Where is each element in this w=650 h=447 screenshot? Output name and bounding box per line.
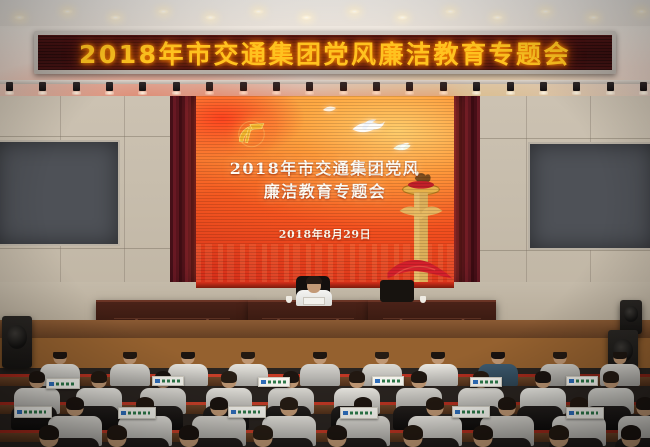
- dove-icon: [392, 140, 414, 154]
- track-spotlight: [106, 82, 113, 91]
- audience-member-hair: [91, 371, 107, 383]
- led-banner-text: 2018年市交通集团党风廉洁教育专题会: [79, 35, 571, 70]
- audience-member-hair: [280, 397, 298, 410]
- speaker-hair: [306, 276, 322, 284]
- audience-member: [86, 424, 148, 447]
- water-cup: [286, 296, 292, 303]
- audience-member-hair: [123, 352, 137, 359]
- track-spotlight: [240, 82, 247, 91]
- water-cup: [420, 296, 426, 303]
- track-spotlight: [73, 82, 80, 91]
- acoustic-panel-left: [0, 140, 120, 246]
- audience-member: [452, 424, 514, 447]
- nameplate-text: [56, 382, 76, 385]
- audience-member-hair: [181, 352, 195, 359]
- track-spotlight: [373, 82, 380, 91]
- track-spotlight: [39, 82, 46, 91]
- slide-date: 2018年8月29日: [196, 226, 454, 242]
- nameplate-text: [268, 381, 287, 384]
- nameplate-logo-icon: [569, 411, 574, 415]
- desk-nameplate: [258, 377, 290, 387]
- audience-member-hair: [535, 371, 551, 383]
- nameplate-logo-icon: [155, 379, 160, 383]
- audience-member-hair: [636, 397, 650, 410]
- nameplate-logo-icon: [473, 380, 478, 384]
- audience-member-hair: [549, 425, 569, 440]
- lighting-track-rail: [0, 80, 650, 84]
- desk-nameplate: [14, 406, 52, 418]
- downlight: [445, 9, 456, 14]
- desk-nameplate: [340, 407, 378, 419]
- audience-member-hair: [553, 352, 567, 359]
- track-spotlight: [206, 82, 213, 91]
- audience-member-hair: [253, 425, 273, 440]
- desk-nameplate: [566, 376, 598, 386]
- nameplate-logo-icon: [121, 411, 126, 415]
- downlight: [349, 9, 360, 14]
- audience-member-hair: [327, 425, 347, 440]
- slide-title-line2: 廉洁教育专题会: [196, 181, 454, 204]
- desk-monitor: [380, 280, 414, 302]
- audience-member: [158, 424, 220, 447]
- ceiling-soffit: [0, 0, 650, 26]
- nameplate-text: [462, 411, 484, 414]
- downlight: [636, 9, 647, 14]
- track-spotlight: [139, 82, 146, 91]
- audience-member-hair: [241, 352, 255, 359]
- speaker-nameplate: [303, 297, 325, 305]
- track-spotlight: [440, 82, 447, 91]
- led-banner-panel: 2018年市交通集团党风廉洁教育专题会: [38, 35, 612, 70]
- audience-member-hair: [491, 352, 505, 359]
- wall-seam: [464, 138, 650, 139]
- nameplate-logo-icon: [231, 410, 236, 414]
- nameplate-text: [128, 412, 150, 415]
- desk-nameplate: [118, 407, 156, 419]
- downlight: [14, 15, 25, 20]
- slide-title-line1: 2018年市交通集团党风: [196, 158, 454, 181]
- track-spotlight: [573, 82, 580, 91]
- desk-nameplate: [470, 377, 502, 387]
- nameplate-logo-icon: [17, 410, 22, 414]
- audience-member-hair: [210, 397, 228, 410]
- party-emblem-icon: [234, 119, 268, 149]
- nameplate-text: [350, 412, 372, 415]
- track-spotlight: [173, 82, 180, 91]
- audience-member-hair: [313, 352, 327, 359]
- desk-nameplate: [152, 376, 184, 386]
- nameplate-text: [24, 411, 46, 414]
- desk-nameplate: [566, 407, 604, 419]
- audience-member: [600, 424, 650, 447]
- audience-member-hair: [621, 425, 641, 440]
- audience-member: [306, 424, 368, 447]
- downlight: [301, 15, 312, 20]
- track-spotlight: [540, 82, 547, 91]
- nameplate-text: [382, 380, 401, 383]
- nameplate-text: [576, 380, 595, 383]
- audience-member-hair: [53, 352, 67, 359]
- audience-member-hair: [66, 397, 84, 410]
- audience-member-hair: [39, 425, 59, 440]
- nameplate-text: [238, 411, 260, 414]
- desk-nameplate: [228, 406, 266, 418]
- nameplate-logo-icon: [261, 380, 266, 384]
- slide-title: 2018年市交通集团党风 廉洁教育专题会: [196, 158, 454, 203]
- wall-seam: [464, 250, 650, 251]
- audience-area: [0, 352, 650, 447]
- audience-member-hair: [349, 371, 365, 383]
- desk-nameplate: [452, 406, 490, 418]
- track-spotlight: [473, 82, 480, 91]
- conference-hall-photo: 2018年市交通集团党风廉洁教育专题会: [0, 0, 650, 447]
- audience-member-hair: [498, 397, 516, 410]
- audience-member: [382, 424, 444, 447]
- audience-member-hair: [179, 425, 199, 440]
- track-spotlight: [607, 82, 614, 91]
- desk-nameplate: [372, 376, 404, 386]
- wall-seam: [0, 136, 186, 137]
- track-spotlight: [273, 82, 280, 91]
- acoustic-panel-right: [528, 142, 650, 250]
- downlight: [158, 9, 169, 14]
- audience-member-hair: [426, 397, 444, 410]
- track-spotlight: [507, 82, 514, 91]
- pa-speaker-right-upper: [620, 300, 642, 334]
- track-spotlight: [6, 82, 13, 91]
- nameplate-logo-icon: [455, 410, 460, 414]
- audience-member-hair: [29, 371, 45, 383]
- dove-icon: [322, 104, 338, 114]
- audience-member-hair: [411, 371, 427, 383]
- audience-member: [232, 424, 294, 447]
- red-ribbon-icon: [386, 254, 454, 280]
- nameplate-logo-icon: [343, 411, 348, 415]
- audience-member: [18, 424, 80, 447]
- downlight: [62, 9, 73, 14]
- audience-member-hair: [221, 371, 237, 383]
- led-banner: 2018年市交通集团党风廉洁教育专题会: [34, 31, 616, 74]
- nameplate-logo-icon: [569, 379, 574, 383]
- downlight: [110, 15, 121, 20]
- track-spotlight: [340, 82, 347, 91]
- audience-member-hair: [473, 425, 493, 440]
- dove-icon: [350, 116, 386, 138]
- nameplate-text: [480, 381, 499, 384]
- audience-member-hair: [613, 352, 627, 359]
- audience-member-hair: [107, 425, 127, 440]
- nameplate-logo-icon: [49, 382, 54, 386]
- wall-seam: [0, 248, 186, 249]
- downlight: [397, 15, 408, 20]
- desk-nameplate: [46, 378, 80, 389]
- track-spotlight: [640, 82, 647, 91]
- audience-member-hair: [403, 425, 423, 440]
- audience-member: [528, 424, 590, 447]
- nameplate-logo-icon: [375, 379, 380, 383]
- audience-member-hair: [603, 371, 619, 383]
- audience-member-hair: [375, 352, 389, 359]
- track-spotlight: [406, 82, 413, 91]
- track-spotlight: [306, 82, 313, 91]
- presentation-screen: 2018年市交通集团党风 廉洁教育专题会 2018年8月29日: [196, 96, 454, 286]
- nameplate-text: [576, 412, 598, 415]
- nameplate-text: [162, 380, 181, 383]
- audience-member-hair: [431, 352, 445, 359]
